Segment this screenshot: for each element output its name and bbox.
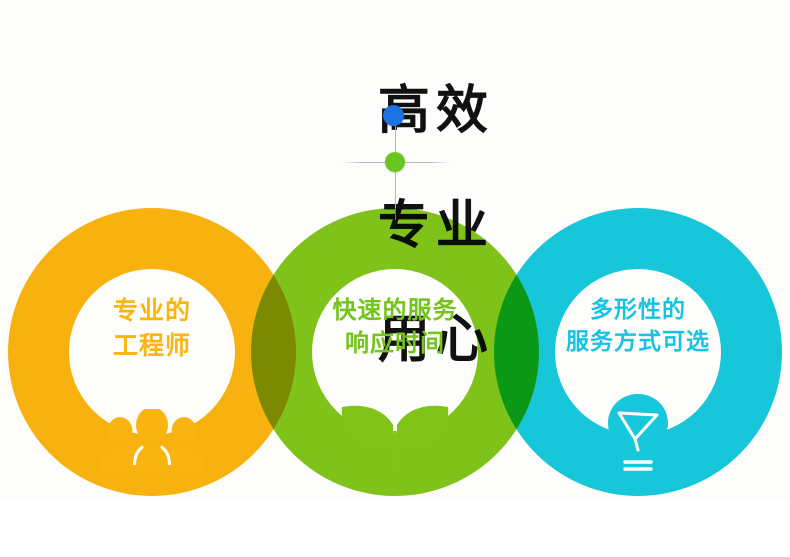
ring-hole-cyan [555,269,721,435]
green-dot-icon [385,152,405,172]
ring-service-modes [494,208,782,496]
bottom-whitespace [0,499,790,557]
blue-dot-icon [383,105,404,126]
ring-hole-green [312,269,478,435]
infographic-canvas: 高效 专业 用心 专业的 工程师 [0,0,790,557]
ring-hole-orange [69,269,235,435]
